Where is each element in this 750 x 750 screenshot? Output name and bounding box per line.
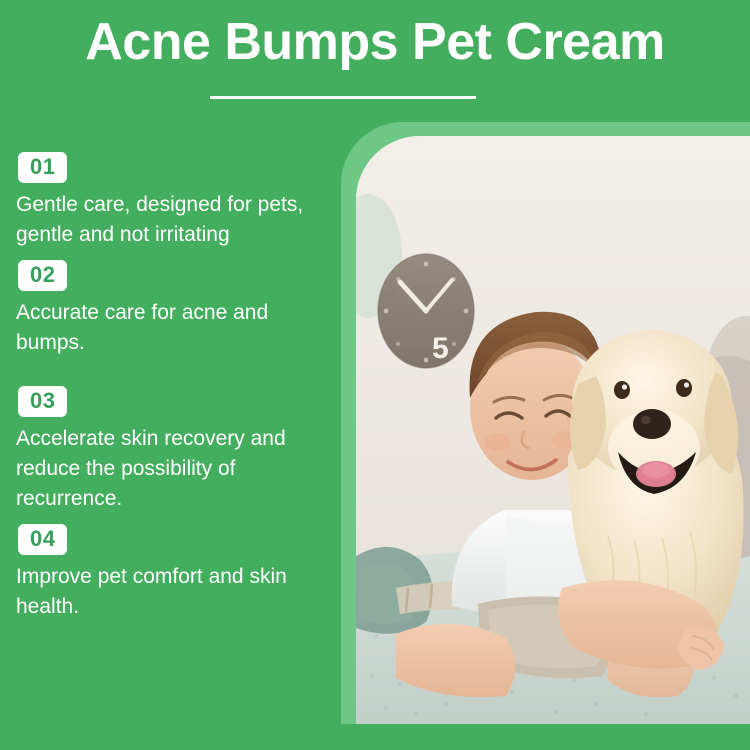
feature-number-badge: 04 [18,524,67,555]
title-divider [210,96,476,99]
feature-number-badge: 02 [18,260,67,291]
poster-root: Acne Bumps Pet Cream 01 Gentle care, des… [0,0,750,750]
svg-text:5: 5 [432,332,449,365]
feature-text: Gentle care, designed for pets, gentle a… [16,190,328,250]
header: Acne Bumps Pet Cream [0,14,750,70]
list-item: 03 Accelerate skin recovery and reduce t… [16,386,336,514]
list-item: 04 Improve pet comfort and skin health. [16,524,336,622]
feature-list: 01 Gentle care, designed for pets, gentl… [16,152,336,626]
feature-number-badge: 03 [18,386,67,417]
feature-text: Accelerate skin recovery and reduce the … [16,424,328,514]
feature-text: Accurate care for acne and bumps. [16,298,328,358]
feature-number: 02 [30,262,55,288]
list-item: 02 Accurate care for acne and bumps. [16,260,336,358]
feature-number: 03 [30,388,55,414]
feature-text: Improve pet comfort and skin health. [16,562,328,622]
list-item: 01 Gentle care, designed for pets, gentl… [16,152,336,250]
feature-number: 04 [30,526,55,552]
product-photo: 5 [356,136,750,724]
page-title: Acne Bumps Pet Cream [0,14,750,70]
feature-number-badge: 01 [18,152,67,183]
feature-number: 01 [30,154,55,180]
